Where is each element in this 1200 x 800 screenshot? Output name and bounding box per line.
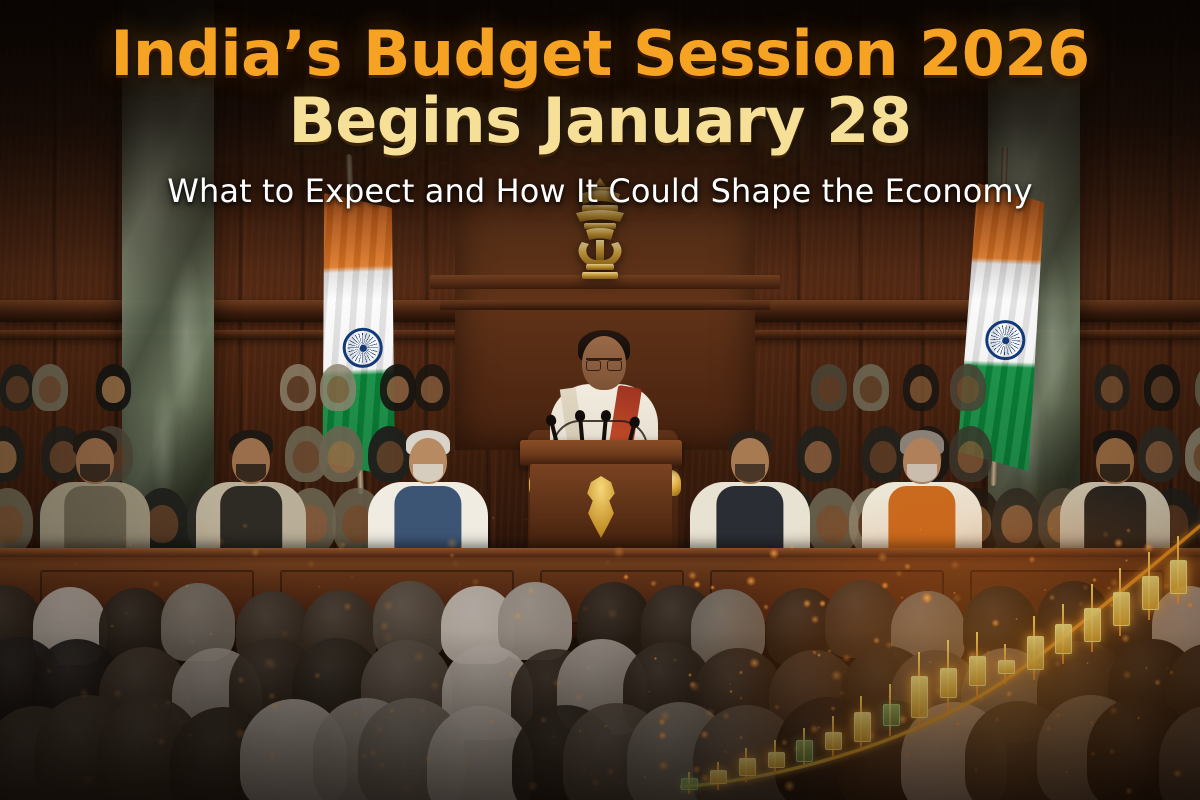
crowd-figure bbox=[1185, 426, 1200, 482]
crowd-figure bbox=[811, 364, 847, 411]
crowd-figure bbox=[1195, 364, 1200, 411]
dignitary-figure bbox=[196, 430, 306, 560]
crowd-figure bbox=[0, 364, 35, 411]
promo-banner: India’s Budget Session 2026 Begins Janua… bbox=[0, 0, 1200, 800]
dignitary-figure bbox=[40, 430, 150, 560]
headline-block: India’s Budget Session 2026 Begins Janua… bbox=[0, 22, 1200, 210]
crowd-figure bbox=[380, 364, 416, 411]
crowd-figure bbox=[903, 364, 939, 411]
dais-rail bbox=[440, 300, 770, 310]
crowd-figure bbox=[319, 426, 362, 482]
crowd-figure bbox=[0, 426, 24, 482]
crowd-figure bbox=[414, 364, 450, 411]
headline-line-1: India’s Budget Session 2026 bbox=[0, 22, 1200, 85]
crowd-figure bbox=[1144, 364, 1180, 411]
eyeglasses-icon bbox=[586, 358, 622, 369]
crowd-figure bbox=[32, 364, 68, 411]
crowd-figure bbox=[320, 364, 356, 411]
crowd-figure bbox=[992, 488, 1043, 554]
crowd-figure bbox=[1094, 364, 1130, 411]
dignitary-figure bbox=[368, 430, 488, 560]
dignitary-figure bbox=[690, 430, 810, 560]
assembly-crowd-foreground bbox=[0, 560, 1200, 800]
headline-subtitle: What to Expect and How It Could Shape th… bbox=[0, 172, 1200, 210]
crowd-figure bbox=[280, 364, 316, 411]
crowd-head bbox=[498, 582, 572, 660]
crowd-figure bbox=[853, 364, 889, 411]
headline-line-2: Begins January 28 bbox=[0, 89, 1200, 152]
crowd-figure bbox=[96, 364, 132, 411]
dignitary-figure bbox=[1060, 430, 1170, 560]
dignitary-figure bbox=[862, 430, 982, 560]
crowd-figure bbox=[950, 364, 986, 411]
crowd-figure bbox=[0, 488, 33, 554]
